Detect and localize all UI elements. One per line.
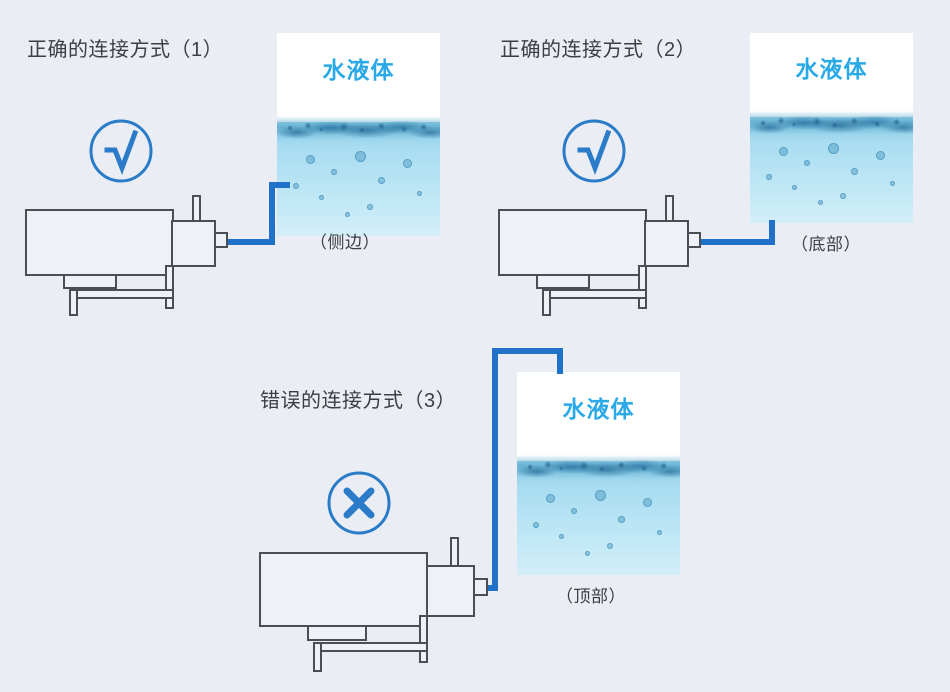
diagram-canvas: 正确的连接方式（1） 水液体 （侧边） [0, 0, 950, 692]
pump-assembly [238, 340, 738, 692]
panel-wrong-3: 错误的连接方式（3） 水液体 （顶部） [238, 340, 738, 692]
pump-assembly [473, 0, 950, 340]
panel-correct-2: 正确的连接方式（2） 水液体 （底部） [473, 0, 950, 340]
panel-correct-1: 正确的连接方式（1） 水液体 （侧边） [0, 0, 470, 340]
pump-assembly [0, 0, 470, 340]
